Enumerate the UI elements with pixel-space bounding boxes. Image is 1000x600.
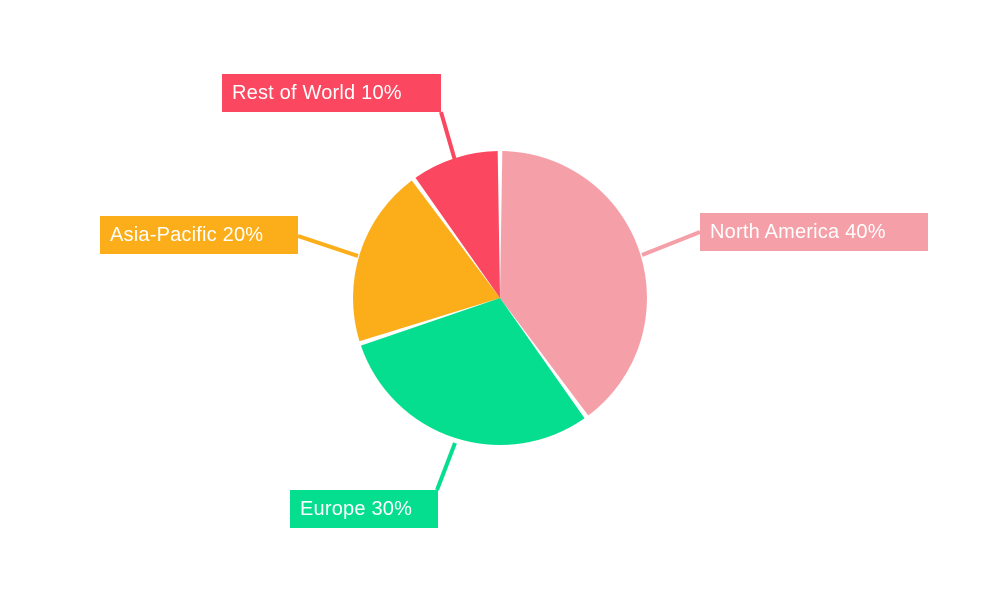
slice-label-rest-of-world-text: Rest of World 10% bbox=[232, 83, 402, 103]
pie-chart-figure: North America 40% Europe 30% Asia-Pacifi… bbox=[0, 0, 1000, 600]
pie-chart-canvas bbox=[0, 0, 1000, 600]
slice-label-north-america: North America 40% bbox=[700, 213, 928, 251]
leader-line-north-america bbox=[642, 232, 700, 255]
slice-label-asia-pacific: Asia-Pacific 20% bbox=[100, 216, 298, 254]
leader-line-rest-of-world bbox=[441, 112, 456, 164]
pie-slices bbox=[353, 151, 647, 445]
leader-line-asia-pacific bbox=[298, 236, 358, 256]
slice-label-asia-pacific-text: Asia-Pacific 20% bbox=[110, 225, 263, 245]
leader-line-europe bbox=[437, 443, 455, 490]
slice-label-north-america-text: North America 40% bbox=[710, 222, 886, 242]
slice-label-rest-of-world: Rest of World 10% bbox=[222, 74, 441, 112]
slice-label-europe-text: Europe 30% bbox=[300, 499, 412, 519]
slice-label-europe: Europe 30% bbox=[290, 490, 438, 528]
